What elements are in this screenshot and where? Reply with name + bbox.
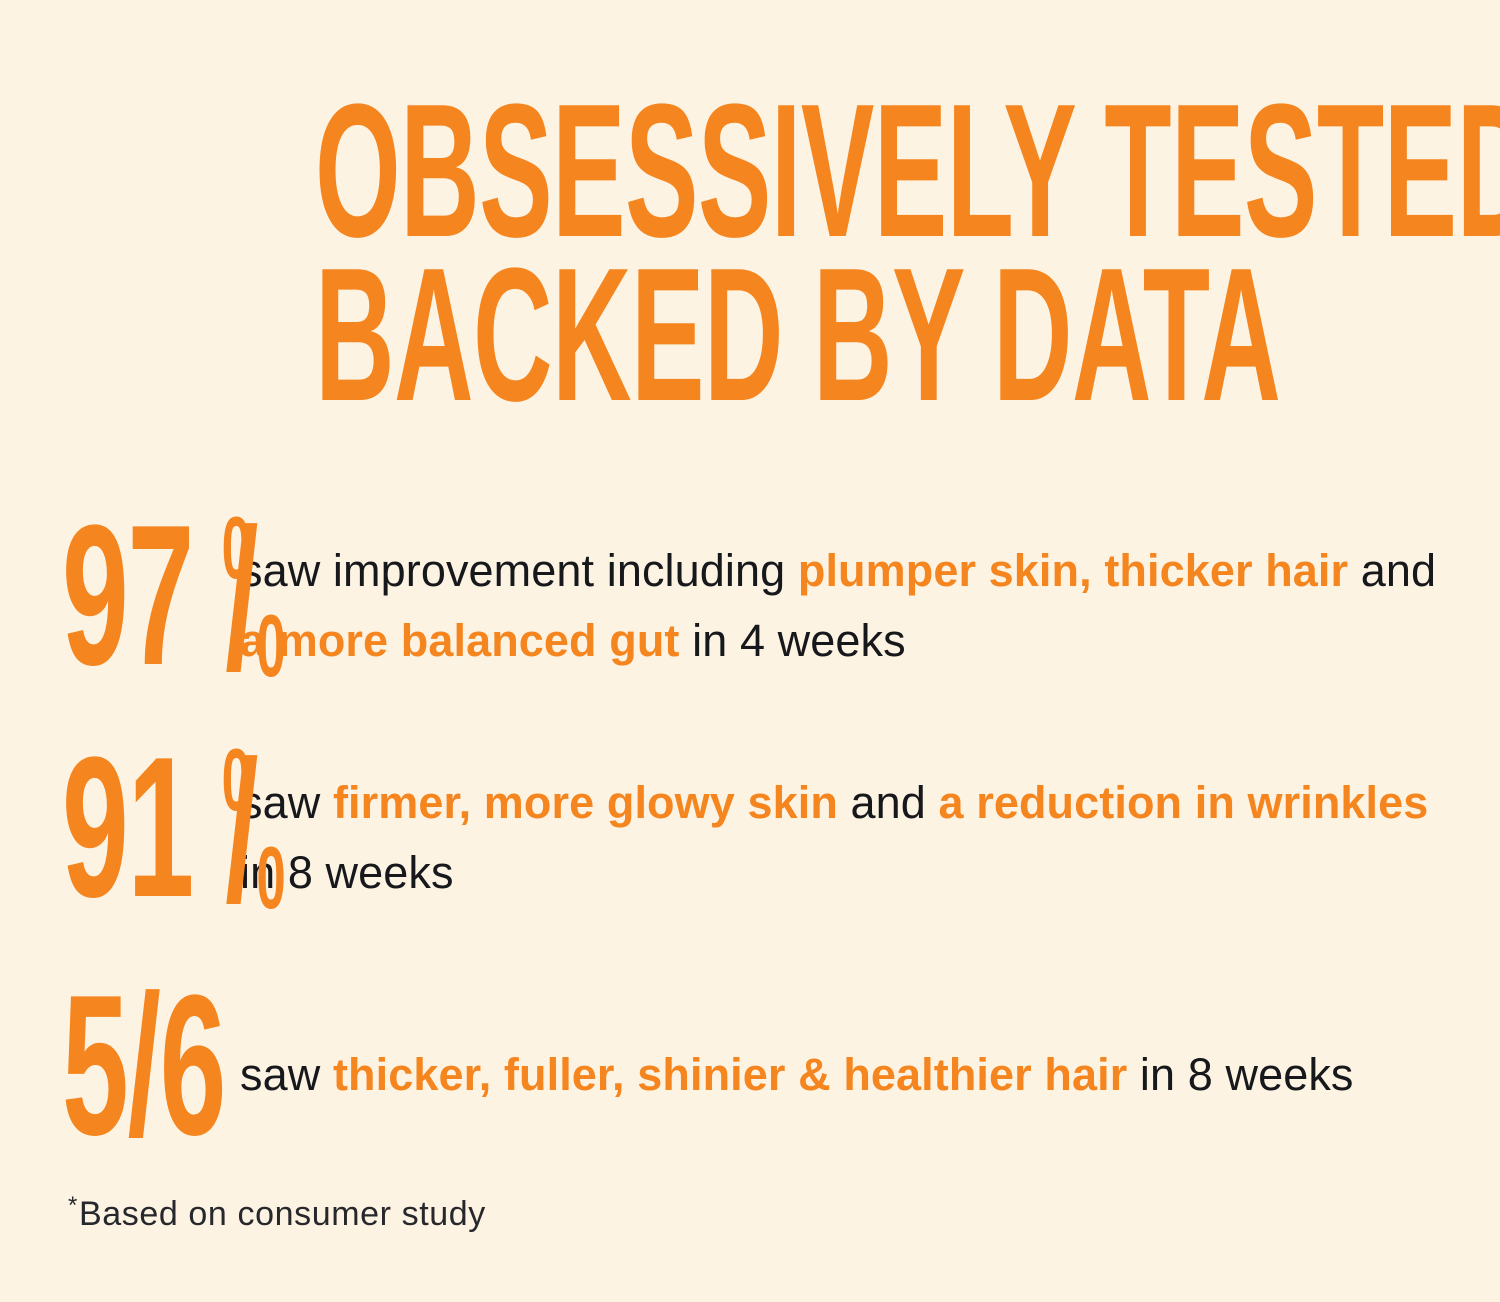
footnote: *Based on consumer study xyxy=(68,1186,486,1234)
stat-segment-highlight: firmer, more glowy skin xyxy=(333,777,838,828)
stat-segment: in 8 weeks xyxy=(1127,1049,1353,1100)
stat-row: 97 0 / 0 saw improvement including plump… xyxy=(62,498,1462,698)
stat-segment: and xyxy=(1348,545,1436,596)
page-title: OBSESSIVELY TESTED, BACKED BY DATA xyxy=(0,78,1500,428)
stat-segment: and xyxy=(838,777,939,828)
stat-figure-number: 5/6 xyxy=(62,954,225,1177)
stat-segment-highlight: a more balanced gut xyxy=(240,615,680,666)
stat-segment-highlight: thicker, fuller, shinier & healthier hai… xyxy=(333,1049,1127,1100)
promo-graphic: OBSESSIVELY TESTED, BACKED BY DATA 97 0 … xyxy=(0,0,1500,1302)
percent-icon: 0 / 0 xyxy=(222,498,289,698)
stat-segment-highlight: a reduction in wrinkles xyxy=(939,777,1429,828)
footnote-text: Based on consumer study xyxy=(79,1195,486,1233)
stat-figure: 5/6 xyxy=(62,968,240,1164)
stat-segment: saw improvement including xyxy=(240,545,798,596)
stat-figure: 97 0 / 0 xyxy=(62,498,240,698)
stat-segment-highlight: plumper skin, thicker hair xyxy=(798,545,1348,596)
stat-row: 91 0 / 0 saw firmer, more glowy skin and… xyxy=(62,730,1462,930)
stat-segment: in 4 weeks xyxy=(680,615,906,666)
stat-description: saw improvement including plumper skin, … xyxy=(240,498,1462,676)
stat-row: 5/6 saw thicker, fuller, shinier & healt… xyxy=(62,968,1462,1164)
headline-line-2: BACKED BY DATA xyxy=(315,242,1185,428)
stat-figure-number: 91 xyxy=(62,716,193,939)
stat-description: saw thicker, fuller, shinier & healthier… xyxy=(240,968,1462,1110)
stat-description: saw firmer, more glowy skin and a reduct… xyxy=(240,730,1462,908)
stat-figure-number: 97 xyxy=(62,484,193,707)
stat-segment: saw xyxy=(240,1049,333,1100)
footnote-marker: * xyxy=(68,1192,78,1219)
percent-icon: 0 / 0 xyxy=(222,730,289,930)
stat-figure: 91 0 / 0 xyxy=(62,730,240,930)
